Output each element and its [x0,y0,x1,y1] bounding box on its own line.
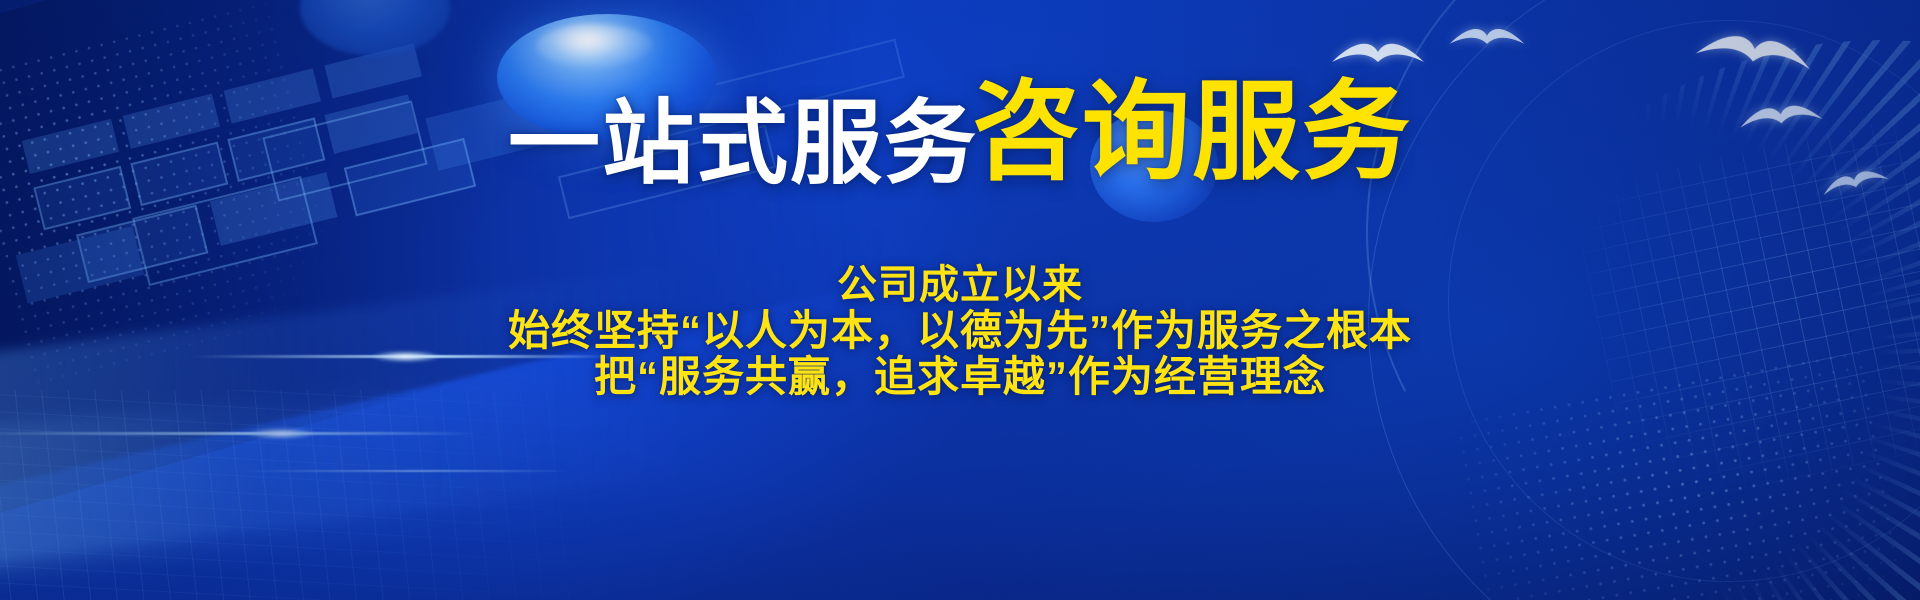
headline: 一站式服务咨询服务 [0,78,1920,190]
seagull-icon [1448,22,1526,56]
headline-main-text: 一站式服务 [508,93,978,195]
seagull-icon [1330,36,1426,76]
soft-orb-background [300,0,450,56]
light-streak [0,432,480,435]
subtitle-line-1: 公司成立以来 [0,262,1920,308]
perspective-grid-bottom-left [0,390,713,600]
subtitle-line-3: 把“服务共赢，追求卓越”作为经营理念 [0,354,1920,400]
subtitle-block: 公司成立以来 始终坚持“以人为本，以德为先”作为服务之根本 把“服务共赢，追求卓… [0,262,1920,400]
promo-banner: 一站式服务咨询服务 公司成立以来 始终坚持“以人为本，以德为先”作为服务之根本 … [0,0,1920,600]
headline-accent-text: 咨询服务 [972,71,1412,192]
subtitle-line-2: 始终坚持“以人为本，以德为先”作为服务之根本 [0,308,1920,354]
orb-highlight [536,24,654,68]
light-streak [240,470,570,472]
